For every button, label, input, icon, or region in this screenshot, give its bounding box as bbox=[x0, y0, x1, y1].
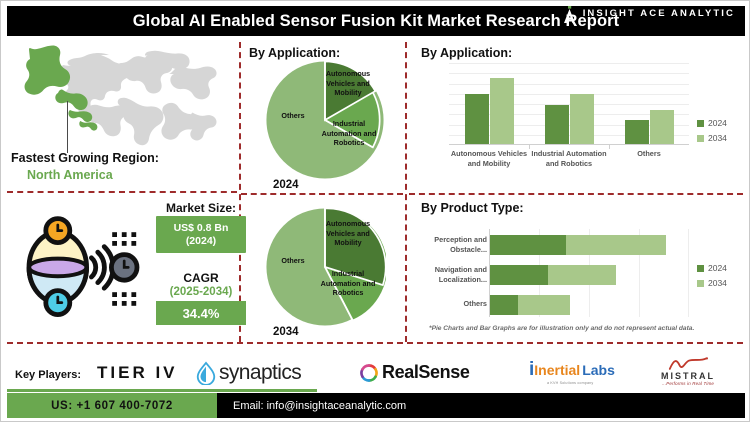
logo-mistral-tagline: ...Performs in Real Time bbox=[662, 381, 714, 386]
infographic-page: Global AI Enabled Sensor Fusion Kit Mark… bbox=[0, 0, 750, 422]
pie-section-heading-2024: By Application: bbox=[249, 46, 340, 60]
hbar-2034-others bbox=[518, 295, 570, 315]
bar-2024-others bbox=[625, 120, 649, 144]
fastest-growing-region-value: North America bbox=[27, 168, 113, 182]
pie-2034-year: 2034 bbox=[273, 326, 299, 338]
logo-realsense-text: RealSense bbox=[382, 362, 469, 383]
legend-swatch-2024 bbox=[697, 120, 704, 127]
hbar-2024-navigation bbox=[490, 265, 548, 285]
logo-synaptics: synaptics bbox=[195, 361, 301, 385]
legend-label-2024: 2024 bbox=[708, 118, 727, 128]
hlegend-swatch-2024 bbox=[697, 265, 704, 272]
footer-brand: INSIGHT ACE ANALYTIC bbox=[563, 1, 735, 26]
hbar-row-others bbox=[490, 295, 570, 315]
cagr-label: CAGR bbox=[153, 271, 249, 285]
cagr-value: 34.4% bbox=[183, 306, 220, 321]
logo-mistral: MISTRAL ...Performs in Real Time bbox=[661, 357, 715, 386]
footer-bar: US: +1 607 400-7072 Email: info@insighta… bbox=[7, 393, 745, 418]
hbar-row-navigation bbox=[490, 265, 616, 285]
bar-chart-by-product-type bbox=[489, 229, 689, 317]
logo-realsense: RealSense bbox=[359, 362, 469, 383]
logo-inertial-labs-text1: Inertial bbox=[534, 362, 580, 378]
key-players-underline bbox=[7, 389, 317, 392]
bar-2024-industrial bbox=[545, 105, 569, 144]
logo-inertial-labs-text2: Labs bbox=[582, 362, 615, 378]
bar-group-others bbox=[609, 63, 689, 144]
hlegend-item-2034: 2034 bbox=[697, 278, 727, 288]
hbar-category-navigation: Navigation and Localization... bbox=[411, 265, 487, 284]
hbar-chart-legend: 2024 2034 bbox=[697, 263, 727, 288]
bar-category-industrial: Industrial Automation and Robotics bbox=[529, 149, 609, 168]
logo-inertial-labs-tagline: a KVH Solutions company bbox=[547, 381, 593, 385]
hlegend-swatch-2034 bbox=[697, 280, 704, 287]
legend-swatch-2034 bbox=[697, 135, 704, 142]
map-pointer-line bbox=[67, 101, 68, 153]
bar-group-industrial bbox=[529, 63, 609, 144]
hbar-2024-perception bbox=[490, 235, 566, 255]
logo-tier-iv: TIER IV bbox=[97, 363, 178, 383]
legend-item-2034: 2034 bbox=[697, 133, 727, 143]
pie-2034-label-autonomous: Autonomous Vehicles and Mobility bbox=[319, 219, 377, 248]
bar-2034-industrial bbox=[570, 94, 594, 144]
hlegend-item-2024: 2024 bbox=[697, 263, 727, 273]
bar-chart-category-labels: Autonomous Vehicles and Mobility Industr… bbox=[449, 149, 689, 168]
logo-mistral-text: MISTRAL bbox=[661, 371, 715, 381]
bar-category-others: Others bbox=[609, 149, 689, 168]
insight-ace-logo-icon bbox=[563, 6, 576, 22]
pie-2034-label-industrial: Industrial Automation and Robotics bbox=[319, 269, 377, 298]
cagr-badge: 34.4% bbox=[156, 301, 246, 325]
footer-brand-text: INSIGHT ACE ANALYTIC bbox=[583, 8, 735, 19]
legend-item-2024: 2024 bbox=[697, 118, 727, 128]
market-size-label: Market Size: bbox=[153, 201, 249, 215]
logo-inertial-labs: i Inertial Labs a KVH Solutions company bbox=[529, 359, 615, 385]
hbar-2034-perception bbox=[566, 235, 666, 255]
sensor-fusion-icon bbox=[13, 213, 141, 321]
key-players-label: Key Players: bbox=[15, 369, 81, 381]
pie-2024-year: 2024 bbox=[273, 179, 299, 191]
divider-bottom bbox=[7, 342, 743, 344]
fastest-growing-region-label: Fastest Growing Region: bbox=[11, 151, 159, 165]
logo-tier-iv-text: TIER IV bbox=[97, 363, 178, 383]
footer-phone-text: US: +1 607 400-7072 bbox=[51, 400, 173, 412]
realsense-iris-icon bbox=[359, 363, 379, 383]
bar-section-heading: By Application: bbox=[421, 46, 512, 60]
market-size-badge: US$ 0.8 Bn (2024) bbox=[156, 216, 246, 253]
bar-2034-others bbox=[650, 110, 674, 144]
bar-groups bbox=[449, 63, 689, 144]
hbar-row-perception bbox=[490, 235, 666, 255]
page-title: Global AI Enabled Sensor Fusion Kit Mark… bbox=[133, 12, 620, 31]
mistral-swoosh-icon bbox=[667, 357, 709, 371]
footer-email-block[interactable]: Email: info@insightaceanalytic.com bbox=[217, 393, 745, 418]
world-map bbox=[15, 45, 230, 150]
bar-chart-by-application bbox=[449, 63, 689, 145]
footer-email-text: Email: info@insightaceanalytic.com bbox=[233, 400, 406, 412]
divider-charts-horizontal bbox=[409, 193, 743, 195]
divider-left-bottom bbox=[7, 191, 237, 193]
hbar-2034-navigation bbox=[548, 265, 616, 285]
footer-phone-block[interactable]: US: +1 607 400-7072 bbox=[7, 393, 217, 418]
synaptics-drop-icon bbox=[195, 361, 217, 385]
hbar-category-others: Others bbox=[411, 299, 487, 309]
chart-disclaimer-note: *Pie Charts and Bar Graphs are for illus… bbox=[429, 325, 694, 332]
bar-group-autonomous bbox=[449, 63, 529, 144]
bar-chart-legend: 2024 2034 bbox=[697, 118, 727, 143]
hbar-category-labels: Perception and Obstacle... Navigation an… bbox=[411, 229, 487, 317]
legend-label-2034: 2034 bbox=[708, 133, 727, 143]
bar-2034-autonomous bbox=[490, 78, 514, 144]
cagr-period: (2025-2034) bbox=[153, 286, 249, 298]
pie-2024-label-others: Others bbox=[273, 111, 313, 121]
logo-synaptics-text: synaptics bbox=[219, 361, 301, 385]
pie-2024-label-industrial: Industrial Automation and Robotics bbox=[321, 119, 377, 148]
pie-2024-label-autonomous: Autonomous Vehicles and Mobility bbox=[319, 69, 377, 98]
bar-2024-autonomous bbox=[465, 94, 489, 144]
hlegend-label-2024: 2024 bbox=[708, 263, 727, 273]
hbar-2024-others bbox=[490, 295, 518, 315]
market-size-value: US$ 0.8 Bn bbox=[174, 222, 229, 235]
hlegend-label-2034: 2034 bbox=[708, 278, 727, 288]
hbar-category-perception: Perception and Obstacle... bbox=[411, 235, 487, 254]
pie-2034-label-others: Others bbox=[273, 256, 313, 266]
bar-category-autonomous: Autonomous Vehicles and Mobility bbox=[449, 149, 529, 168]
bar-chart-axis bbox=[449, 144, 689, 145]
market-size-year: (2024) bbox=[186, 235, 216, 248]
hbar-section-heading: By Product Type: bbox=[421, 201, 524, 215]
divider-pies-horizontal bbox=[241, 193, 403, 195]
divider-middle bbox=[405, 42, 407, 342]
